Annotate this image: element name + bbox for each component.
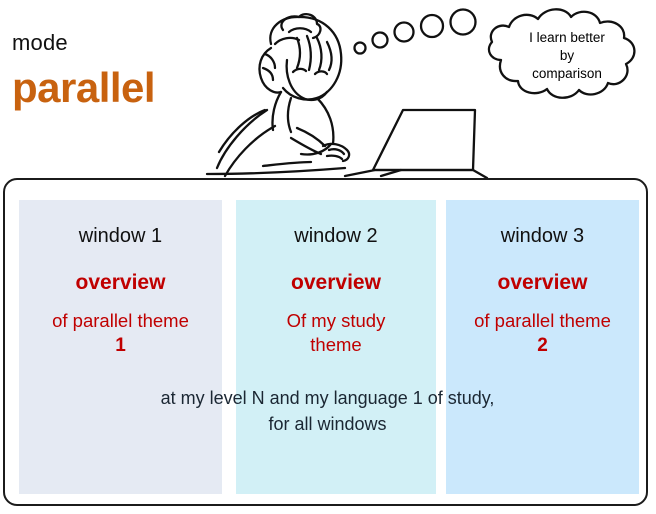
mode-value: parallel <box>12 63 155 113</box>
window-1-title: window 1 <box>19 224 222 248</box>
thought-bubble-line-3: comparison <box>532 66 602 81</box>
window-panel-3[interactable]: window 3 overview of parallel theme 2 <box>446 200 639 494</box>
window-2-subtitle-line-1: Of my study <box>287 310 386 331</box>
window-1-heading: overview <box>19 270 222 295</box>
thought-bubble-line-2: by <box>560 48 575 63</box>
thought-dot-1 <box>355 43 366 54</box>
side-hair <box>259 48 281 92</box>
window-3-subtitle-text: of parallel theme <box>474 310 611 331</box>
laptop-base <box>345 170 487 178</box>
window-3-heading: overview <box>446 270 639 295</box>
window-2-subtitle: Of my study theme <box>236 309 436 357</box>
window-1-subtitle-text: of parallel theme <box>52 310 189 331</box>
window-panel-2[interactable]: window 2 overview Of my study theme <box>236 200 436 494</box>
person-studying-illustration: I learn better by comparison <box>205 0 655 178</box>
header-area: mode parallel <box>0 0 656 178</box>
laptop-screen <box>373 110 475 170</box>
body-right <box>317 98 333 144</box>
forearm <box>217 110 267 168</box>
desk-item <box>263 162 311 166</box>
panels-layer: window 1 overview of parallel theme 1 wi… <box>5 180 646 504</box>
window-2-title: window 2 <box>236 224 436 248</box>
hand <box>323 144 349 161</box>
support-arm <box>272 92 281 130</box>
thought-dot-3 <box>395 23 414 42</box>
thought-dot-5 <box>451 10 476 35</box>
thought-dot-2 <box>373 33 388 48</box>
window-panel-1[interactable]: window 1 overview of parallel theme 1 <box>19 200 222 494</box>
window-2-heading: overview <box>236 270 436 295</box>
window-3-number: 2 <box>537 335 548 356</box>
window-3-title: window 3 <box>446 224 639 248</box>
mode-label: mode <box>12 31 68 55</box>
windows-container: window 1 overview of parallel theme 1 wi… <box>3 178 648 506</box>
window-1-subtitle: of parallel theme 1 <box>19 309 222 358</box>
window-1-number: 1 <box>115 335 126 356</box>
window-2-subtitle-line-2: theme <box>310 334 361 355</box>
thought-dot-4 <box>421 15 443 37</box>
thought-bubble-line-1: I learn better <box>529 30 605 45</box>
window-3-subtitle: of parallel theme 2 <box>446 309 639 358</box>
